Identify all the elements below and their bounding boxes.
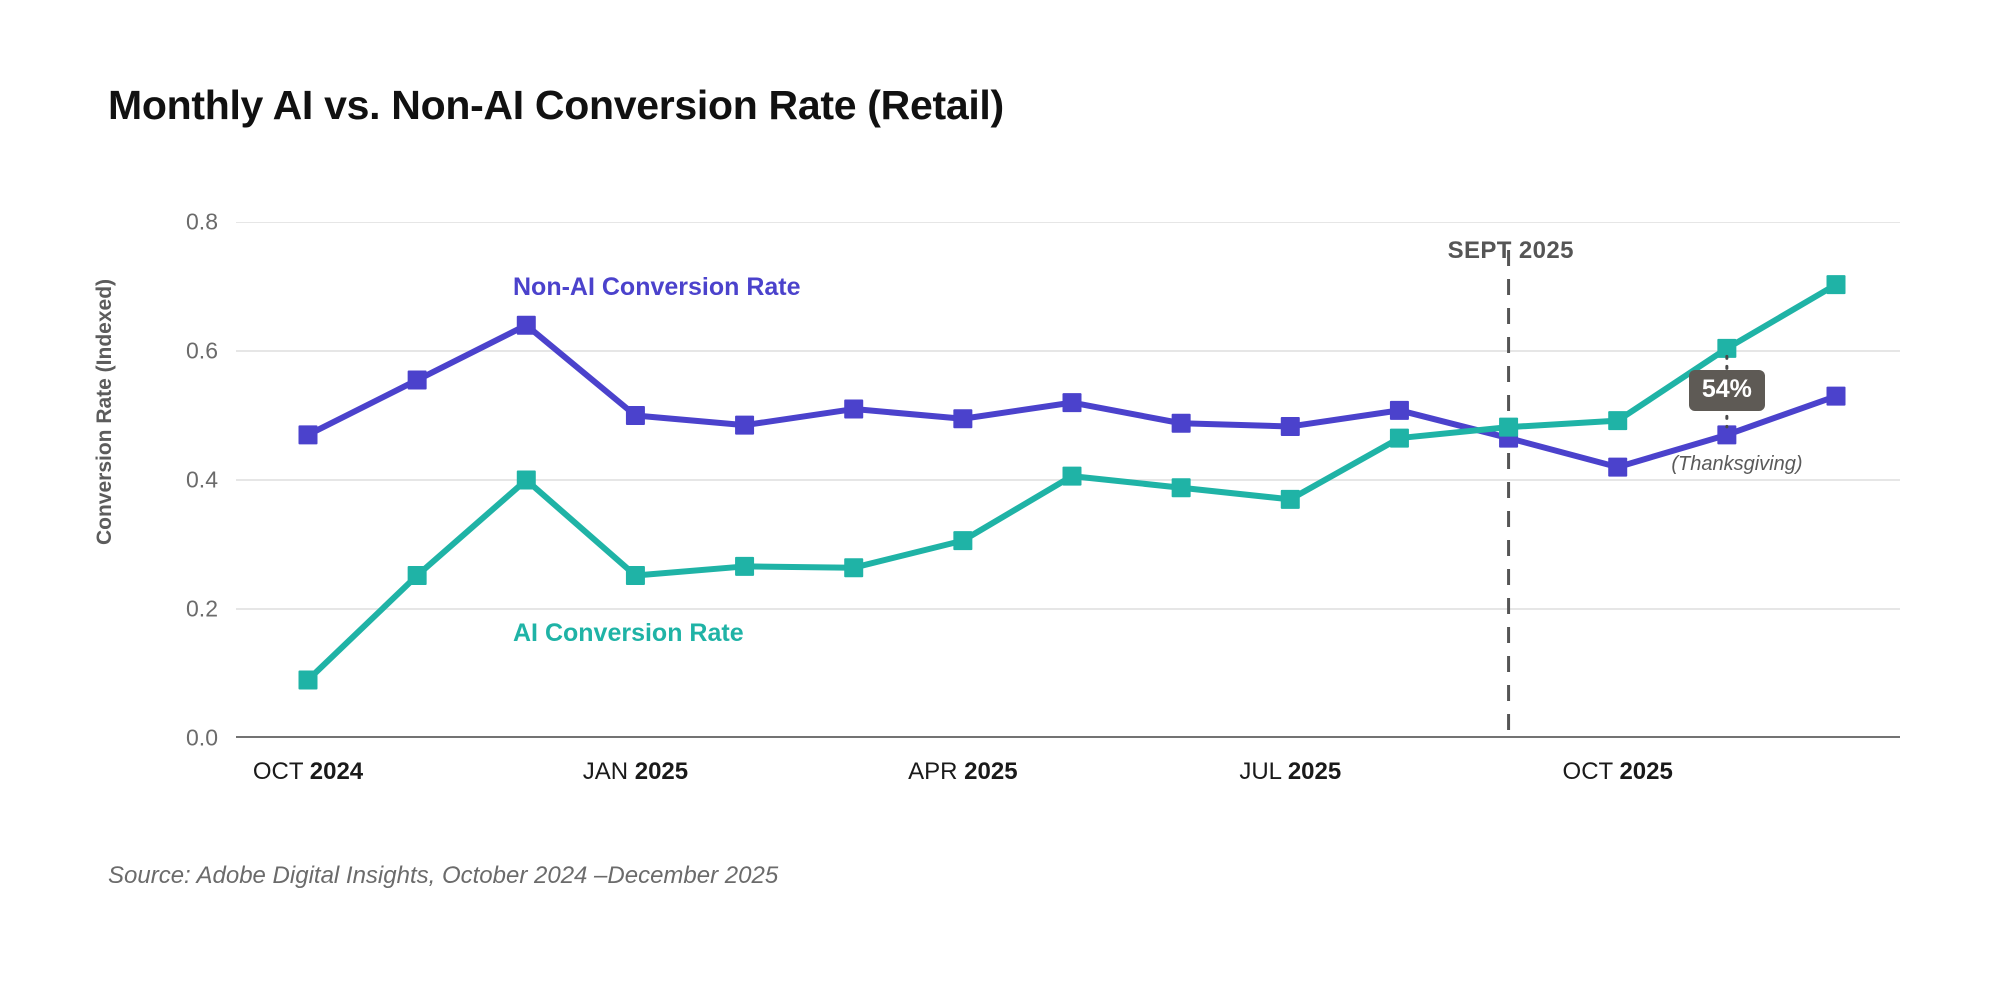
data-point-marker: [408, 371, 427, 390]
data-point-marker: [1063, 467, 1082, 486]
series-label-ai: AI Conversion Rate: [513, 619, 744, 648]
data-point-marker: [1172, 414, 1191, 433]
chart-page: Monthly AI vs. Non-AI Conversion Rate (R…: [0, 0, 2000, 1000]
data-point-marker: [735, 557, 754, 576]
series-label-non-ai: Non-AI Conversion Rate: [513, 273, 801, 302]
x-tick-label: OCT 2024: [253, 758, 363, 786]
data-point-marker: [517, 471, 536, 490]
plot-area: [236, 222, 1900, 738]
marker-line-label: SEPT 2025: [1448, 237, 1574, 265]
data-point-marker: [1281, 490, 1300, 509]
data-point-marker: [1172, 478, 1191, 497]
gridlines: [236, 222, 1900, 609]
data-point-marker: [517, 316, 536, 335]
data-point-marker: [1608, 411, 1627, 430]
data-point-marker: [626, 406, 645, 425]
data-point-marker: [299, 670, 318, 689]
data-point-marker: [1063, 393, 1082, 412]
data-point-marker: [1608, 458, 1627, 477]
line-chart-svg: [236, 222, 1900, 738]
x-tick-label: JAN 2025: [583, 758, 688, 786]
callout-note: (Thanksgiving): [1671, 453, 1802, 476]
data-point-marker: [1827, 275, 1846, 294]
data-point-marker: [1390, 401, 1409, 420]
x-tick-label: APR 2025: [908, 758, 1017, 786]
data-point-marker: [1499, 418, 1518, 437]
x-tick-label: JUL 2025: [1239, 758, 1341, 786]
data-point-marker: [408, 566, 427, 585]
data-point-marker: [626, 566, 645, 585]
data-point-marker: [1827, 387, 1846, 406]
x-tick-label: OCT 2025: [1563, 758, 1673, 786]
data-point-marker: [953, 531, 972, 550]
data-point-marker: [953, 409, 972, 428]
data-point-marker: [844, 558, 863, 577]
data-point-marker: [735, 416, 754, 435]
data-point-marker: [1390, 429, 1409, 448]
callout-badge: 54%: [1689, 370, 1765, 411]
data-point-marker: [299, 425, 318, 444]
data-point-marker: [1281, 417, 1300, 436]
data-point-marker: [844, 400, 863, 419]
source-note: Source: Adobe Digital Insights, October …: [108, 862, 778, 890]
